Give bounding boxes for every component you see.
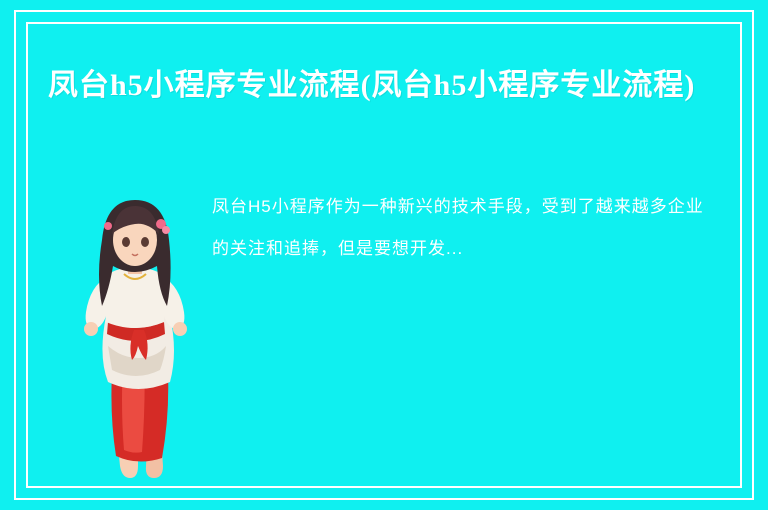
article-summary: 凤台H5小程序作为一种新兴的技术手段，受到了越来越多企业的关注和追捧，但是要想开… [212, 186, 720, 270]
page-title: 凤台h5小程序专业流程(凤台h5小程序专业流程) [48, 62, 720, 109]
anime-girl-illustration [62, 196, 210, 482]
article-card: 凤台h5小程序专业流程(凤台h5小程序专业流程) [0, 0, 768, 510]
